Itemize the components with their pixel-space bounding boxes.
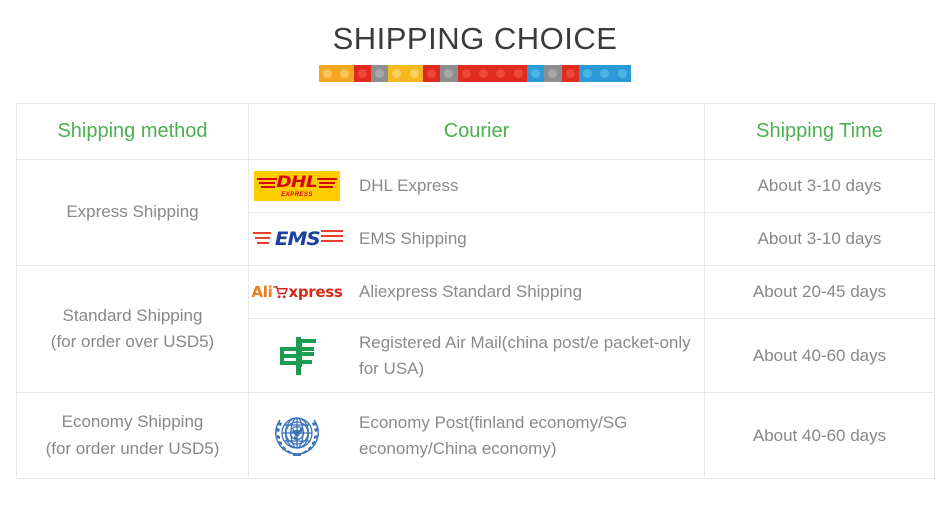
lego-brick: [388, 65, 423, 82]
lego-brick: [562, 65, 579, 82]
method-label-line2: (for order under USD5): [17, 436, 248, 462]
method-label-line2: (for order over USD5): [17, 329, 248, 355]
shipping-choice-panel: SHIPPING CHOICE Shipping method Courier …: [0, 0, 950, 520]
lego-stud: [323, 69, 332, 78]
courier-cell-china-post: Registered Air Mail(china post/e packet-…: [249, 319, 705, 393]
courier-cell-aliexpress: Ali xpress Aliexpress Standard Ship: [249, 266, 705, 319]
lego-stud: [531, 69, 540, 78]
lego-brick: [423, 65, 440, 82]
time-cell: About 3-10 days: [705, 213, 935, 266]
title-block: SHIPPING CHOICE: [0, 0, 950, 82]
time-cell: About 40-60 days: [705, 393, 935, 479]
shipping-table-wrap: Shipping method Courier Shipping Time Ex…: [16, 103, 934, 479]
lego-brick: [354, 65, 371, 82]
china-post-icon: [274, 335, 320, 377]
shopping-cart-icon: [273, 285, 288, 300]
lego-stud: [583, 69, 592, 78]
lego-stud: [566, 69, 575, 78]
method-cell-economy: Economy Shipping (for order under USD5): [17, 393, 249, 479]
lego-brick: [440, 65, 457, 82]
lego-stud: [427, 69, 436, 78]
page-title: SHIPPING CHOICE: [0, 22, 950, 56]
table-row: Standard Shipping (for order over USD5) …: [17, 266, 935, 319]
aliexpress-logo: Ali xpress: [249, 270, 345, 314]
method-label-line1: Standard Shipping: [17, 303, 248, 329]
courier-label: Economy Post(finland economy/SG economy/…: [359, 410, 704, 461]
table-header-row: Shipping method Courier Shipping Time: [17, 104, 935, 160]
courier-label: EMS Shipping: [359, 226, 467, 252]
shipping-table: Shipping method Courier Shipping Time Ex…: [16, 103, 935, 479]
lego-stud: [600, 69, 609, 78]
courier-cell-dhl: DHL EXPRESS DHL Express: [249, 160, 705, 213]
time-cell: About 3-10 days: [705, 160, 935, 213]
method-cell-express: Express Shipping: [17, 160, 249, 266]
lego-brick-bar: [319, 65, 631, 82]
dhl-logo-sub: EXPRESS: [281, 192, 313, 198]
courier-label: Registered Air Mail(china post/e packet-…: [359, 330, 704, 381]
lego-brick: [579, 65, 631, 82]
aliexpress-logo-part2: xpress: [288, 283, 342, 301]
column-header-method: Shipping method: [17, 104, 249, 160]
lego-stud: [392, 69, 401, 78]
lego-stud: [444, 69, 453, 78]
column-header-time: Shipping Time: [705, 104, 935, 160]
lego-stud: [479, 69, 488, 78]
time-cell: About 20-45 days: [705, 266, 935, 319]
aliexpress-logo-part1: Ali: [251, 283, 272, 301]
ems-logo-word: EMS: [275, 228, 320, 250]
method-label-line1: Economy Shipping: [17, 409, 248, 435]
china-post-logo: [249, 334, 345, 378]
method-label-line1: Express Shipping: [17, 199, 248, 225]
lego-stud: [340, 69, 349, 78]
lego-stud: [410, 69, 419, 78]
lego-stud: [496, 69, 505, 78]
lego-stud: [548, 69, 557, 78]
lego-brick: [544, 65, 561, 82]
united-nations-icon: [269, 411, 325, 461]
table-row: Express Shipping: [17, 160, 935, 213]
dhl-logo-word: DHL: [277, 174, 318, 190]
un-logo: [249, 414, 345, 458]
lego-stud: [618, 69, 627, 78]
lego-stud: [514, 69, 523, 78]
lego-brick: [527, 65, 544, 82]
lego-stud: [462, 69, 471, 78]
lego-brick: [319, 65, 354, 82]
method-cell-standard: Standard Shipping (for order over USD5): [17, 266, 249, 393]
table-body: Express Shipping: [17, 160, 935, 479]
column-header-courier: Courier: [249, 104, 705, 160]
ems-logo: EMS: [249, 217, 345, 261]
dhl-logo: DHL EXPRESS: [249, 164, 345, 208]
courier-cell-ems: EMS EMS Shipping: [249, 213, 705, 266]
lego-stud: [375, 69, 384, 78]
lego-brick: [371, 65, 388, 82]
table-header: Shipping method Courier Shipping Time: [17, 104, 935, 160]
courier-cell-economy-post: Economy Post(finland economy/SG economy/…: [249, 393, 705, 479]
time-cell: About 40-60 days: [705, 319, 935, 393]
table-row: Economy Shipping (for order under USD5): [17, 393, 935, 479]
courier-label: Aliexpress Standard Shipping: [359, 279, 582, 305]
lego-stud: [358, 69, 367, 78]
lego-brick: [458, 65, 527, 82]
courier-label: DHL Express: [359, 173, 459, 199]
